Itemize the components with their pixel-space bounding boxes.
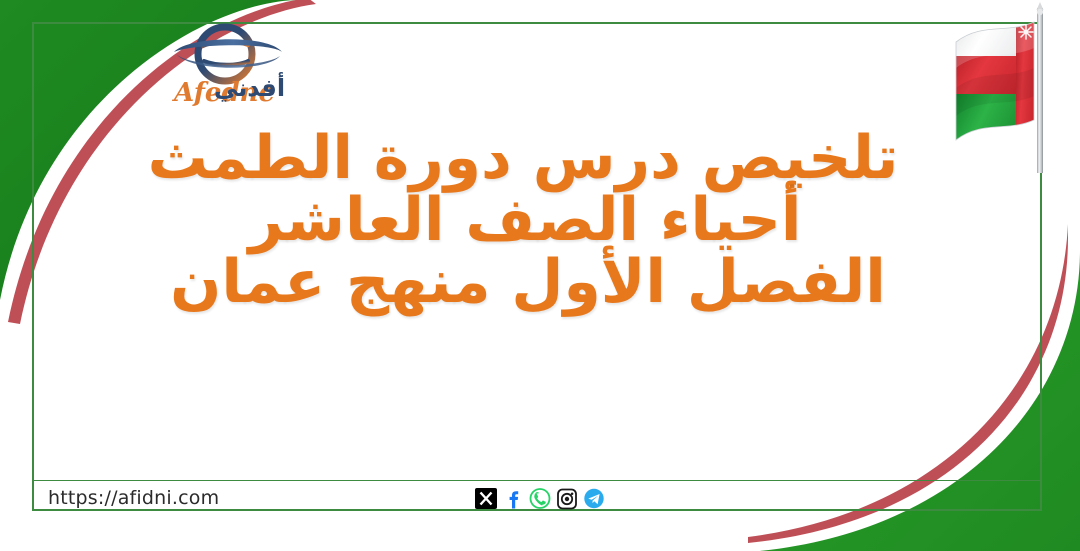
page-title: تلخيص درس دورة الطمث أحياء الصف العاشر ا… bbox=[60, 128, 1000, 313]
title-line-3: الفصل الأول منهج عمان bbox=[60, 252, 996, 314]
poster-canvas: Afedne أفدني تلخيص درس دورة الطمث أحياء … bbox=[0, 0, 1080, 551]
x-twitter-icon[interactable] bbox=[473, 485, 499, 511]
title-line-2: أحياء الصف العاشر bbox=[60, 190, 990, 252]
whatsapp-icon[interactable] bbox=[527, 485, 553, 511]
facebook-icon[interactable] bbox=[500, 485, 526, 511]
footer-divider bbox=[34, 480, 1040, 481]
oman-flag bbox=[942, 0, 1062, 175]
instagram-icon[interactable] bbox=[554, 485, 580, 511]
telegram-icon[interactable] bbox=[581, 485, 607, 511]
oman-emblem-icon bbox=[1019, 25, 1033, 39]
afedni-logo[interactable]: Afedne أفدني bbox=[150, 14, 300, 114]
title-line-1: تلخيص درس دورة الطمث bbox=[60, 128, 986, 190]
logo-arabic-text: أفدني bbox=[214, 74, 285, 102]
social-links bbox=[0, 485, 1080, 511]
